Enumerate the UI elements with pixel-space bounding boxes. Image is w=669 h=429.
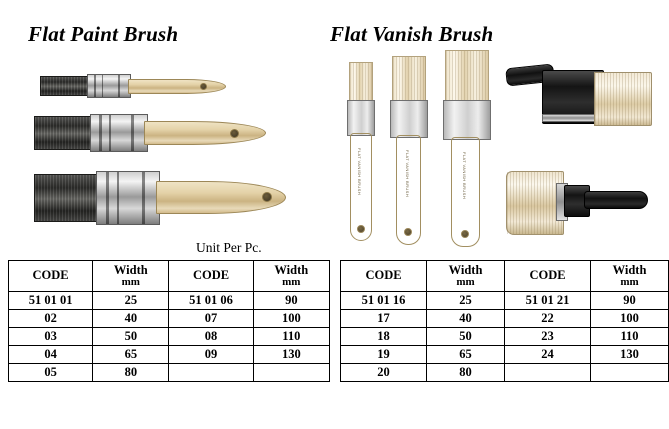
flat-paint-brush-medium xyxy=(34,110,274,158)
bristles xyxy=(349,62,373,104)
ferrule xyxy=(347,100,375,136)
flat-vanish-brush-medium: FLAT VANISH BRUSH xyxy=(386,56,432,246)
table-row: 04 65 09 130 xyxy=(9,346,330,364)
table-row: 17 40 22 100 xyxy=(341,310,669,328)
handle-hang-hole xyxy=(357,225,365,233)
ferrule-band xyxy=(117,172,119,224)
cell-code-1: 05 xyxy=(9,364,93,382)
cell-width-1: 40 xyxy=(93,310,169,328)
wooden-handle xyxy=(128,79,226,94)
bristle-texture xyxy=(595,73,651,125)
header-width-2: Width mm xyxy=(253,261,329,292)
ferrule-band xyxy=(102,75,103,97)
right-panel: Flat Vanish Brush FLAT VANISH BRUSH FLAT… xyxy=(330,0,669,429)
cell-code-2: 51 01 21 xyxy=(505,292,591,310)
catalog-page: Flat Paint Brush xyxy=(0,0,669,429)
header-width-2: Width mm xyxy=(591,261,669,292)
black-handle xyxy=(584,191,648,209)
table-row: 05 80 xyxy=(9,364,330,382)
cell-code-1: 18 xyxy=(341,328,427,346)
ferrule-band xyxy=(94,75,96,97)
ferrule xyxy=(96,171,160,225)
left-spec-table: CODE Width mm CODE Width mm xyxy=(8,260,330,382)
ferrule-band xyxy=(118,75,120,97)
cell-code-1: 19 xyxy=(341,346,427,364)
header-width-2-sub: mm xyxy=(591,277,668,289)
bristle-texture xyxy=(35,117,93,149)
handle-brand-text: FLAT VANISH BRUSH xyxy=(357,148,362,195)
cell-code-2 xyxy=(505,364,591,382)
header-code-1: CODE xyxy=(9,261,93,292)
ferrule xyxy=(390,100,428,138)
handle-hang-hole xyxy=(200,83,207,90)
table-header-row: CODE Width mm CODE Width mm xyxy=(341,261,669,292)
bristles xyxy=(445,50,489,104)
cell-width-2 xyxy=(253,364,329,382)
handle-hang-hole xyxy=(230,129,239,138)
cell-width-2: 100 xyxy=(253,310,329,328)
table-header-row: CODE Width mm CODE Width mm xyxy=(9,261,330,292)
cell-width-2: 110 xyxy=(253,328,329,346)
bristle-texture xyxy=(41,77,89,95)
ferrule-band xyxy=(99,115,102,151)
ferrule xyxy=(90,114,148,152)
cell-width-2: 90 xyxy=(253,292,329,310)
wooden-handle xyxy=(144,121,266,145)
cell-code-2: 08 xyxy=(169,328,253,346)
handle-hang-hole xyxy=(404,228,412,236)
header-code-1: CODE xyxy=(341,261,427,292)
cell-code-2: 22 xyxy=(505,310,591,328)
flat-vanish-brush-narrow: FLAT VANISH BRUSH xyxy=(342,62,378,242)
bristles xyxy=(392,56,426,104)
bristle-texture xyxy=(35,175,99,221)
cell-code-1: 02 xyxy=(9,310,93,328)
header-width-2-sub: mm xyxy=(254,277,329,289)
cell-code-1: 51 01 16 xyxy=(341,292,427,310)
cell-width-1: 50 xyxy=(93,328,169,346)
cell-width-1: 65 xyxy=(427,346,505,364)
cell-code-1: 17 xyxy=(341,310,427,328)
cell-code-1: 20 xyxy=(341,364,427,382)
black-handle-fan-brush xyxy=(506,165,656,245)
cell-width-1: 50 xyxy=(427,328,505,346)
bristles xyxy=(34,174,100,222)
header-code-2-main: CODE xyxy=(193,268,229,282)
ferrule xyxy=(443,100,491,140)
bristles xyxy=(40,76,90,96)
handle-hang-hole xyxy=(461,230,469,238)
cell-code-2: 24 xyxy=(505,346,591,364)
cell-width-1: 80 xyxy=(427,364,505,382)
handle-brand-text: FLAT VANISH BRUSH xyxy=(405,150,410,197)
header-width-1-sub: mm xyxy=(427,277,504,289)
table-row: 20 80 xyxy=(341,364,669,382)
ferrule xyxy=(87,74,131,98)
flat-paint-brush-large xyxy=(34,168,294,230)
ferrule-band xyxy=(142,172,145,224)
cell-width-2: 130 xyxy=(591,346,669,364)
cell-code-2: 23 xyxy=(505,328,591,346)
black-handle-wide-brush xyxy=(506,58,656,148)
handle-brand-text: FLAT VANISH BRUSH xyxy=(462,152,467,199)
cell-width-2: 100 xyxy=(591,310,669,328)
header-width-1-main: Width xyxy=(114,263,148,277)
cell-code-1: 04 xyxy=(9,346,93,364)
header-code-2-main: CODE xyxy=(529,268,565,282)
header-width-1-sub: mm xyxy=(93,277,168,289)
table-row: 51 01 16 25 51 01 21 90 xyxy=(341,292,669,310)
header-width-1-main: Width xyxy=(449,263,483,277)
ferrule-band xyxy=(106,172,109,224)
cell-width-1: 25 xyxy=(427,292,505,310)
cell-code-2 xyxy=(169,364,253,382)
bristle-texture xyxy=(507,172,563,234)
cell-code-1: 03 xyxy=(9,328,93,346)
header-width-2-main: Width xyxy=(613,263,647,277)
ferrule-band xyxy=(109,115,111,151)
ferrule-band xyxy=(131,115,134,151)
header-code-1-main: CODE xyxy=(365,268,401,282)
cell-code-2: 09 xyxy=(169,346,253,364)
header-width-2-main: Width xyxy=(274,263,308,277)
table-row: 03 50 08 110 xyxy=(9,328,330,346)
flat-paint-brush-small xyxy=(40,70,230,102)
table-row: 51 01 01 25 51 01 06 90 xyxy=(9,292,330,310)
right-spec-table: CODE Width mm CODE Width mm xyxy=(340,260,669,382)
cell-width-1: 80 xyxy=(93,364,169,382)
cell-width-2 xyxy=(591,364,669,382)
table-row: 18 50 23 110 xyxy=(341,328,669,346)
bristles xyxy=(34,116,94,150)
header-code-2: CODE xyxy=(169,261,253,292)
left-panel: Flat Paint Brush xyxy=(0,0,330,429)
cell-width-1: 40 xyxy=(427,310,505,328)
cell-code-2: 51 01 06 xyxy=(169,292,253,310)
cell-width-2: 130 xyxy=(253,346,329,364)
right-panel-title: Flat Vanish Brush xyxy=(330,22,493,47)
left-panel-title: Flat Paint Brush xyxy=(28,22,178,47)
cell-width-2: 110 xyxy=(591,328,669,346)
table-row: 02 40 07 100 xyxy=(9,310,330,328)
unit-per-piece-note: Unit Per Pc. xyxy=(196,240,262,256)
handle-hang-hole xyxy=(262,192,272,202)
cell-width-1: 25 xyxy=(93,292,169,310)
cell-width-1: 65 xyxy=(93,346,169,364)
header-code-1-main: CODE xyxy=(33,268,69,282)
flat-vanish-brush-wide: FLAT VANISH BRUSH xyxy=(440,50,496,248)
cell-code-2: 07 xyxy=(169,310,253,328)
header-width-1: Width mm xyxy=(427,261,505,292)
header-width-1: Width mm xyxy=(93,261,169,292)
bristle-texture xyxy=(350,63,372,103)
header-code-2: CODE xyxy=(505,261,591,292)
bristle-texture xyxy=(446,51,488,103)
table-row: 19 65 24 130 xyxy=(341,346,669,364)
cell-width-2: 90 xyxy=(591,292,669,310)
bristle-texture xyxy=(393,57,425,103)
cell-code-1: 51 01 01 xyxy=(9,292,93,310)
bristles xyxy=(594,72,652,126)
